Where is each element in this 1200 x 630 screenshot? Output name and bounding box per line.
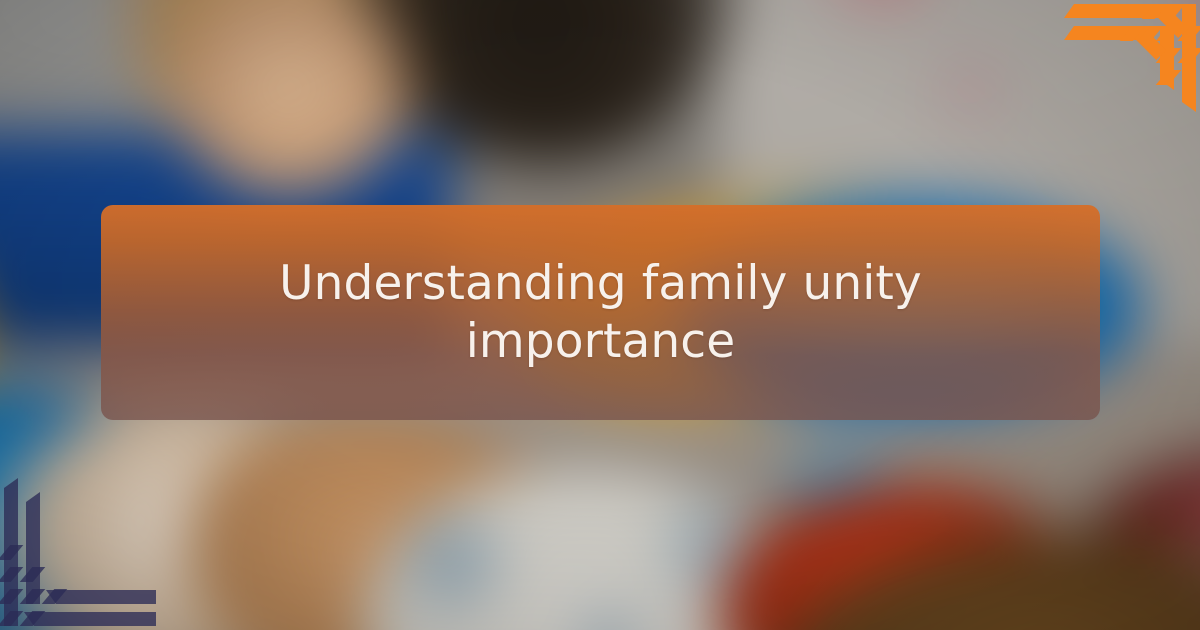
ornament-bar-horizontal-outer — [24, 612, 156, 626]
title-banner: Understanding family unity importance — [101, 205, 1100, 420]
ornament-dash — [1156, 70, 1182, 85]
page-title: Understanding family unity importance — [256, 255, 946, 370]
ornament-dash — [0, 545, 23, 560]
corner-ornament-bottom-left — [0, 474, 160, 630]
ornament-dash — [20, 567, 46, 582]
share-card: Understanding family unity importance — [0, 0, 1200, 630]
ornament-dash — [20, 589, 46, 604]
ornament-bar-vertical-inner — [26, 492, 40, 604]
corner-ornament-top-right — [1040, 0, 1200, 116]
ornament-dash — [1178, 48, 1200, 63]
